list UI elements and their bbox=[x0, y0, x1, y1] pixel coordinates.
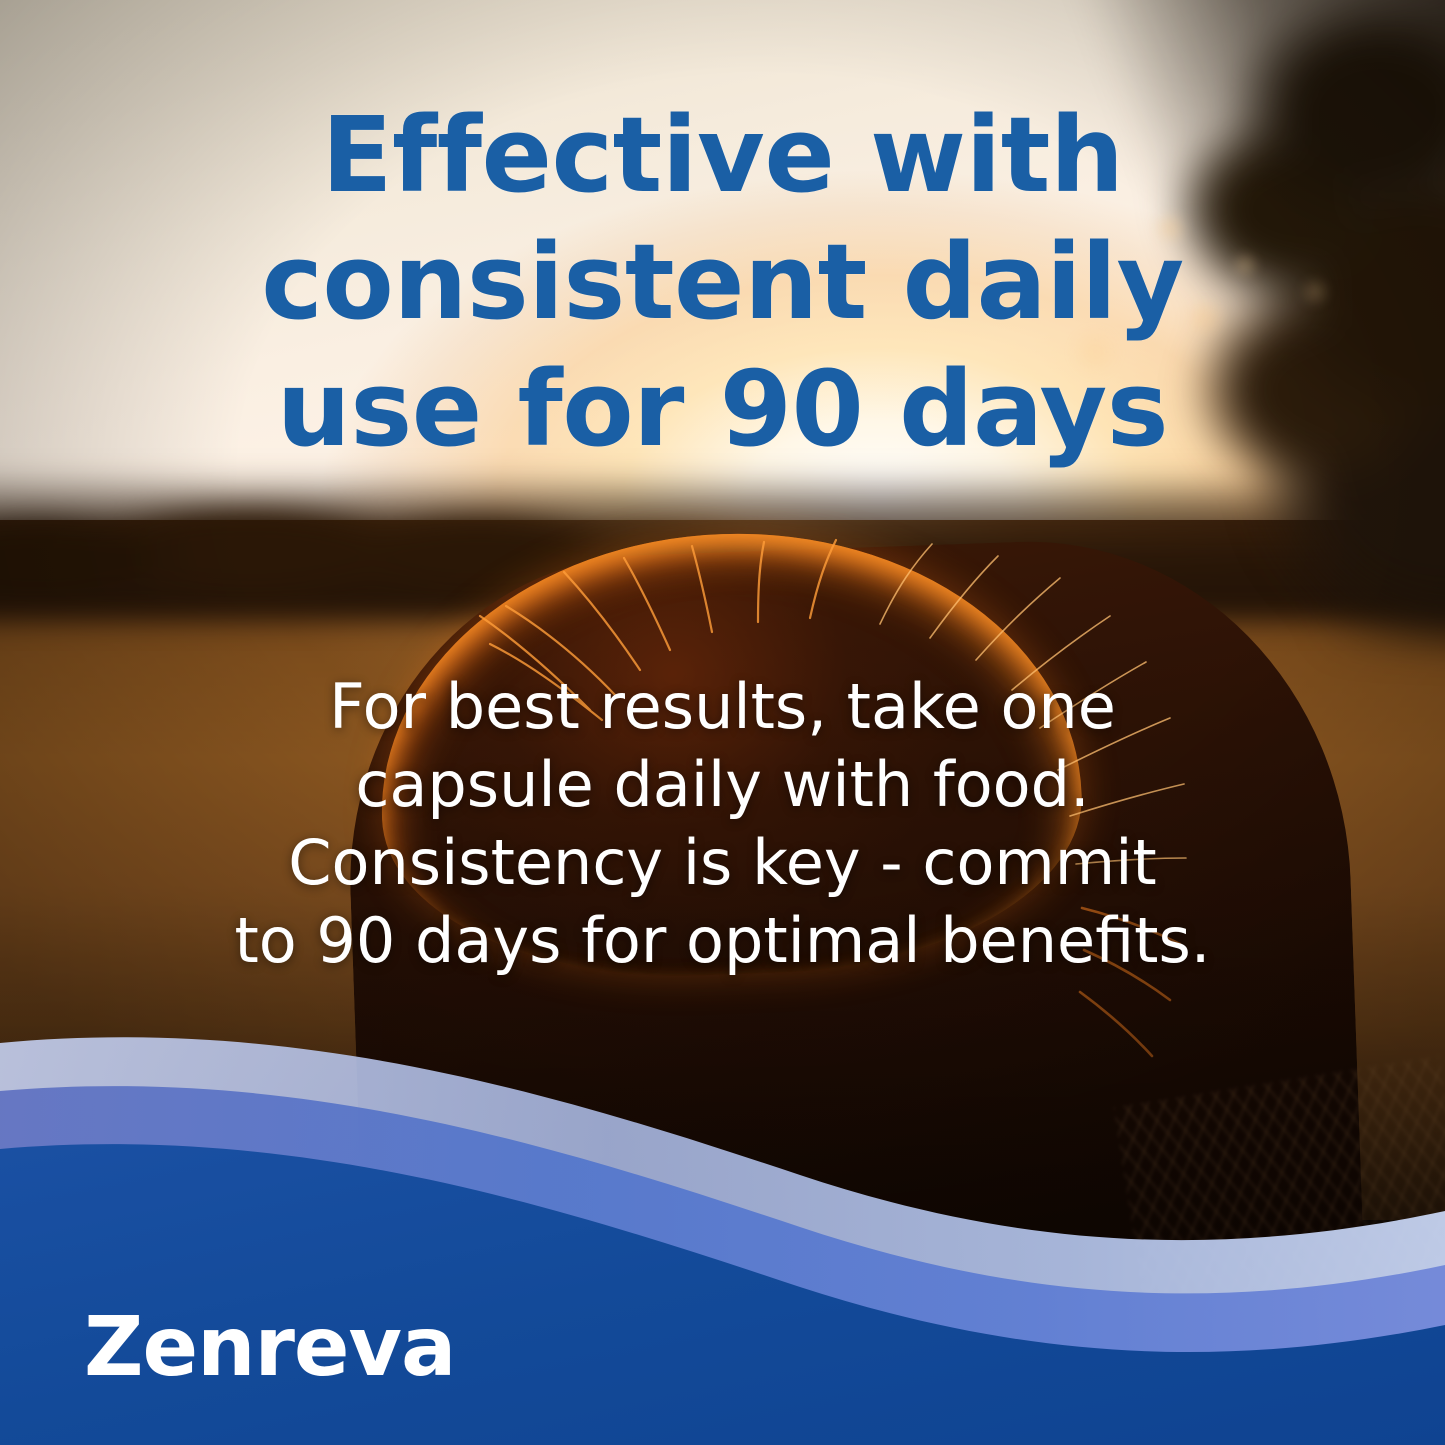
brand-wordmark: Zenreva bbox=[84, 1307, 455, 1389]
headline-line-1: Effective with bbox=[0, 92, 1445, 219]
body-copy-line-2: capsule daily with food. bbox=[0, 746, 1445, 824]
body-copy-line-3: Consistency is key - commit bbox=[0, 824, 1445, 902]
body-copy-line-4: to 90 days for optimal benefits. bbox=[0, 902, 1445, 980]
body-copy: For best results, take one capsule daily… bbox=[0, 668, 1445, 980]
headline: Effective with consistent daily use for … bbox=[0, 92, 1445, 473]
body-copy-line-1: For best results, take one bbox=[0, 668, 1445, 746]
headline-line-3: use for 90 days bbox=[0, 346, 1445, 473]
product-lifestyle-banner: Effective with consistent daily use for … bbox=[0, 0, 1445, 1445]
headline-line-2: consistent daily bbox=[0, 219, 1445, 346]
